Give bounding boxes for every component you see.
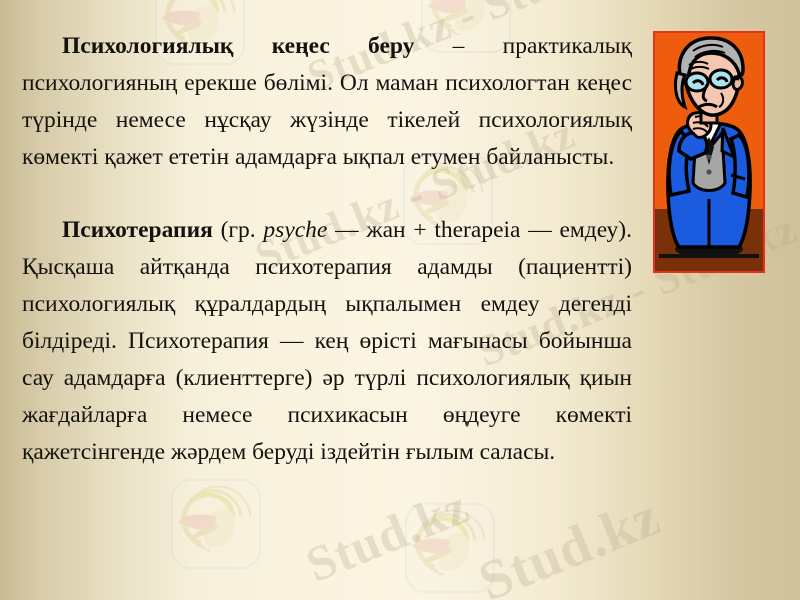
hummingbird-logo	[168, 476, 264, 572]
eyeglass-bridge	[708, 80, 710, 81]
greek-word-psyche: psyche	[263, 217, 327, 243]
term-psychological-counselling: Психологиялық кеңес беру	[62, 33, 414, 59]
paragraph-psychotherapy: Психотерапия (гр. psyche — жан + therape…	[22, 212, 632, 471]
vest-button-top	[706, 154, 711, 159]
thinking-man-cartoon-image	[653, 31, 765, 273]
arm-right	[731, 135, 749, 197]
eyeglass-temple	[732, 78, 739, 79]
watermark-text: Stud.kz	[470, 484, 669, 600]
term-psychotherapy: Психотерапия	[62, 217, 213, 243]
hummingbird-logo	[402, 500, 498, 596]
slide-canvas: Stud.kz - Stud.kzStud.kz - Stud.kzStud.k…	[0, 0, 800, 600]
paragraph-psychotherapy-pre-greek: (гр.	[213, 217, 264, 243]
paragraph-counselling: Психологиялық кеңес беру – практикалық п…	[22, 28, 632, 176]
watermark-text: Stud.kz	[298, 476, 477, 593]
slide-body-text: Психологиялық кеңес беру – практикалық п…	[22, 28, 632, 471]
paragraph-psychotherapy-text: — жан + therapeia — емдеу). Қысқаша айтқ…	[22, 217, 632, 465]
thinking-man-illustration	[655, 33, 763, 271]
ground-line	[659, 254, 759, 258]
vest-button-bottom	[706, 169, 711, 174]
